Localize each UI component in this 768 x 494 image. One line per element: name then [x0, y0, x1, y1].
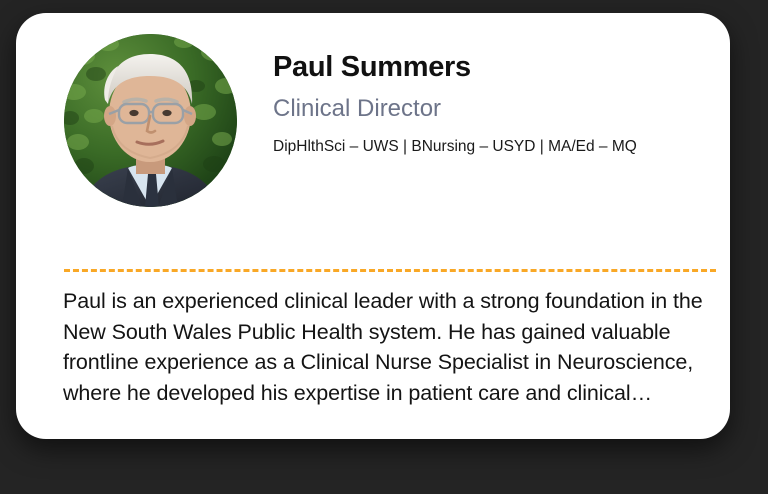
person-bio: Paul is an experienced clinical leader w… — [63, 286, 721, 409]
person-portrait-photo-icon — [64, 34, 237, 207]
identity-block: Paul Summers Clinical Director DipHlthSc… — [273, 51, 716, 156]
card-header: Paul Summers Clinical Director DipHlthSc… — [16, 13, 730, 241]
person-credentials: DipHlthSci – UWS | BNursing – USYD | MA/… — [273, 137, 716, 156]
profile-card: Paul Summers Clinical Director DipHlthSc… — [16, 13, 730, 439]
dashed-divider — [64, 269, 716, 272]
person-name: Paul Summers — [273, 51, 716, 84]
person-role: Clinical Director — [273, 95, 716, 123]
avatar — [64, 34, 237, 207]
